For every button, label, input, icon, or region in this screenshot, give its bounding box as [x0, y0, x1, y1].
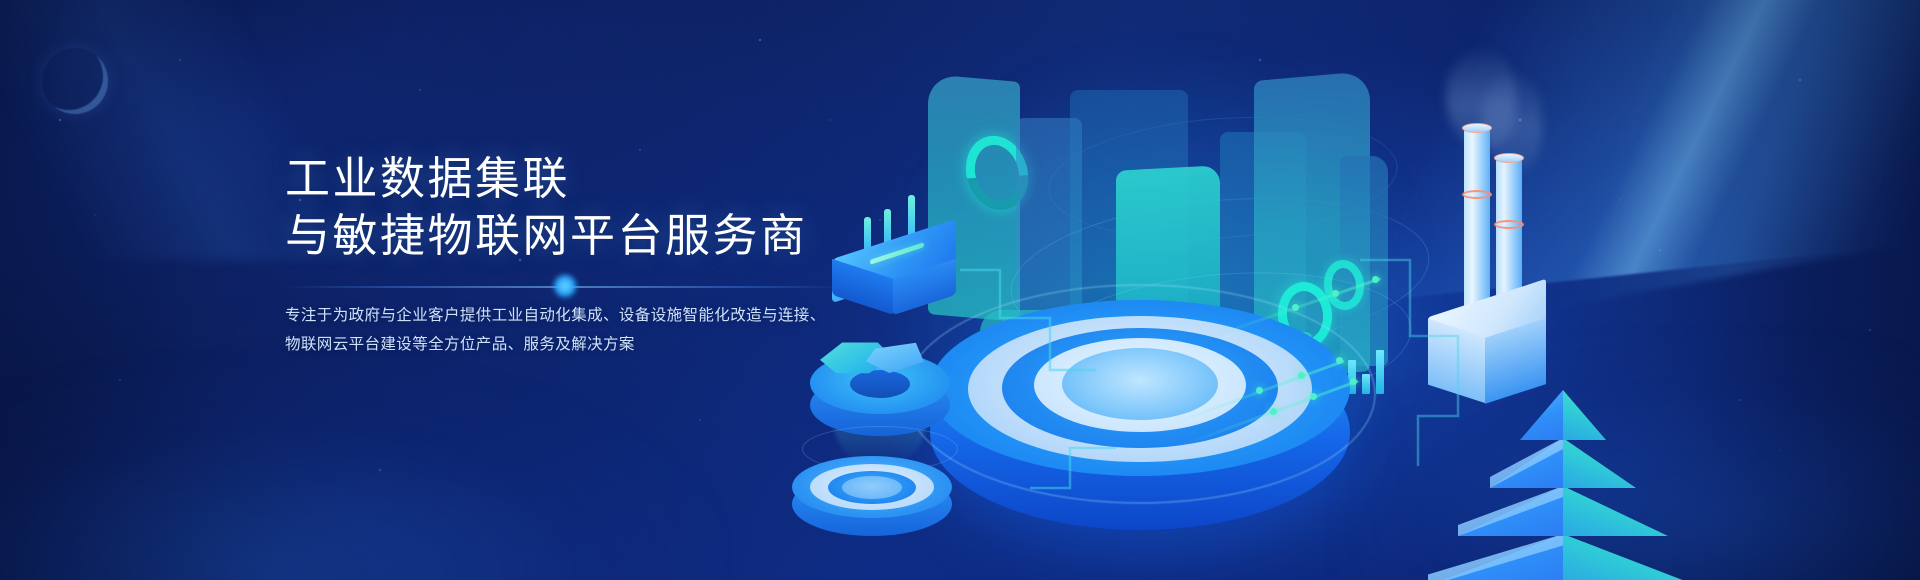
- pyramid-tier: [1520, 390, 1606, 440]
- smokestack-cap: [1494, 153, 1524, 163]
- crescent-moon-icon: [42, 48, 108, 114]
- smokestack-band: [1494, 220, 1524, 229]
- page-subtitle: 专注于为政府与企业客户提供工业自动化集成、设备设施智能化改造与连接、 物联网云平…: [285, 302, 905, 359]
- smokestack-cap: [1462, 123, 1492, 133]
- disc-core: [842, 476, 902, 499]
- disc-halo: [904, 284, 1376, 504]
- secondary-platform-disc: [792, 452, 952, 542]
- headline-line-1: 工业数据集联: [285, 150, 905, 207]
- subtitle-line-2: 物联网云平台建设等全方位产品、服务及解决方案: [285, 331, 905, 360]
- hero-illustration: [780, 0, 1920, 580]
- factory-smokestacks: [1420, 80, 1640, 380]
- headline-divider: [285, 286, 845, 288]
- subtitle-line-1: 专注于为政府与企业客户提供工业自动化集成、设备设施智能化改造与连接、: [285, 302, 905, 331]
- smokestack-band: [1462, 190, 1492, 199]
- pyramid-tier: [1428, 534, 1698, 580]
- hero-banner: 工业数据集联 与敏捷物联网平台服务商 专注于为政府与企业客户提供工业自动化集成、…: [0, 0, 1920, 580]
- light-glow-bottom-left: [0, 360, 720, 580]
- layered-pyramid: [1428, 390, 1698, 580]
- data-platform-disc: [930, 300, 1350, 550]
- hero-copy: 工业数据集联 与敏捷物联网平台服务商 专注于为政府与企业客户提供工业自动化集成、…: [285, 150, 905, 360]
- pyramid-tier: [1490, 438, 1636, 488]
- headline-line-2: 与敏捷物联网平台服务商: [285, 207, 905, 264]
- pyramid-tier: [1458, 486, 1668, 536]
- donut-hole: [850, 370, 910, 398]
- page-title: 工业数据集联 与敏捷物联网平台服务商: [285, 150, 905, 264]
